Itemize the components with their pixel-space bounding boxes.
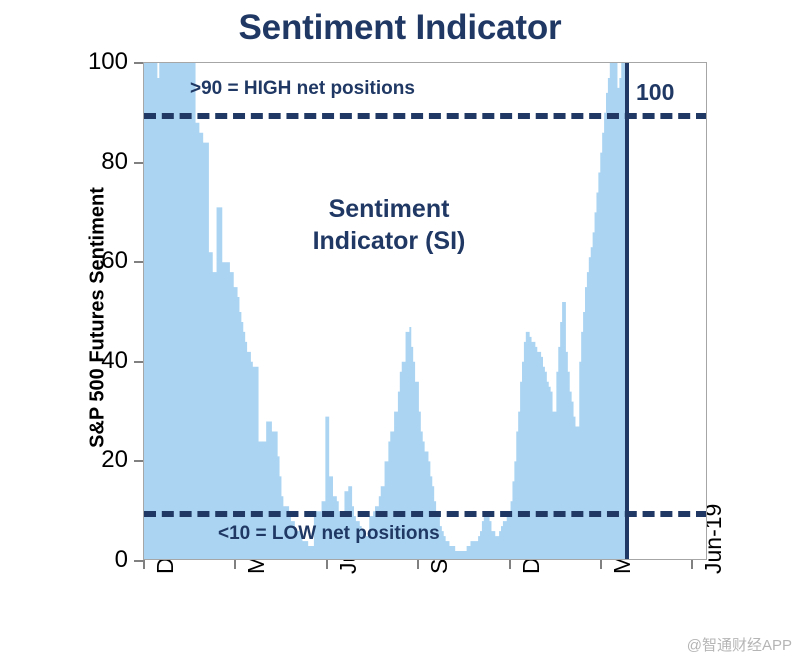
low-threshold-label: <10 = LOW net positions bbox=[218, 523, 440, 545]
high-threshold-label: >90 = HIGH net positions bbox=[190, 78, 415, 100]
sentiment-area-series bbox=[144, 63, 707, 560]
x-tick bbox=[417, 560, 419, 569]
y-tick bbox=[134, 560, 143, 562]
x-tick bbox=[509, 560, 511, 569]
x-tick bbox=[234, 560, 236, 569]
series-label-line2: Indicator (SI) bbox=[244, 225, 534, 257]
low-threshold-line bbox=[144, 511, 707, 517]
y-tick bbox=[134, 460, 143, 462]
plot-area: >90 = HIGH net positions <10 = LOW net p… bbox=[143, 62, 707, 560]
x-tick bbox=[326, 560, 328, 569]
current-value-label: 100 bbox=[636, 79, 674, 106]
y-tick-label: 80 bbox=[10, 148, 128, 176]
series-label-line1: Sentiment bbox=[244, 193, 534, 225]
series-label: Sentiment Indicator (SI) bbox=[244, 193, 534, 257]
y-tick bbox=[134, 361, 143, 363]
y-tick bbox=[134, 62, 143, 64]
watermark: @智通财经APP bbox=[687, 634, 792, 655]
series-area-path bbox=[144, 63, 625, 560]
y-tick bbox=[134, 261, 143, 263]
high-threshold-line bbox=[144, 113, 707, 119]
y-tick-label: 0 bbox=[10, 546, 128, 574]
y-tick-label: 20 bbox=[10, 446, 128, 474]
page-title: Sentiment Indicator bbox=[0, 8, 800, 48]
y-tick-label: 40 bbox=[10, 347, 128, 375]
y-tick-label: 100 bbox=[10, 48, 128, 76]
y-tick-label: 60 bbox=[10, 247, 128, 275]
x-tick bbox=[143, 560, 145, 569]
y-tick bbox=[134, 162, 143, 164]
x-tick bbox=[691, 560, 693, 569]
x-tick bbox=[600, 560, 602, 569]
sentiment-indicator-chart: Sentiment Indicator S&P 500 Futures Sent… bbox=[0, 0, 800, 663]
current-date-marker bbox=[625, 63, 629, 560]
